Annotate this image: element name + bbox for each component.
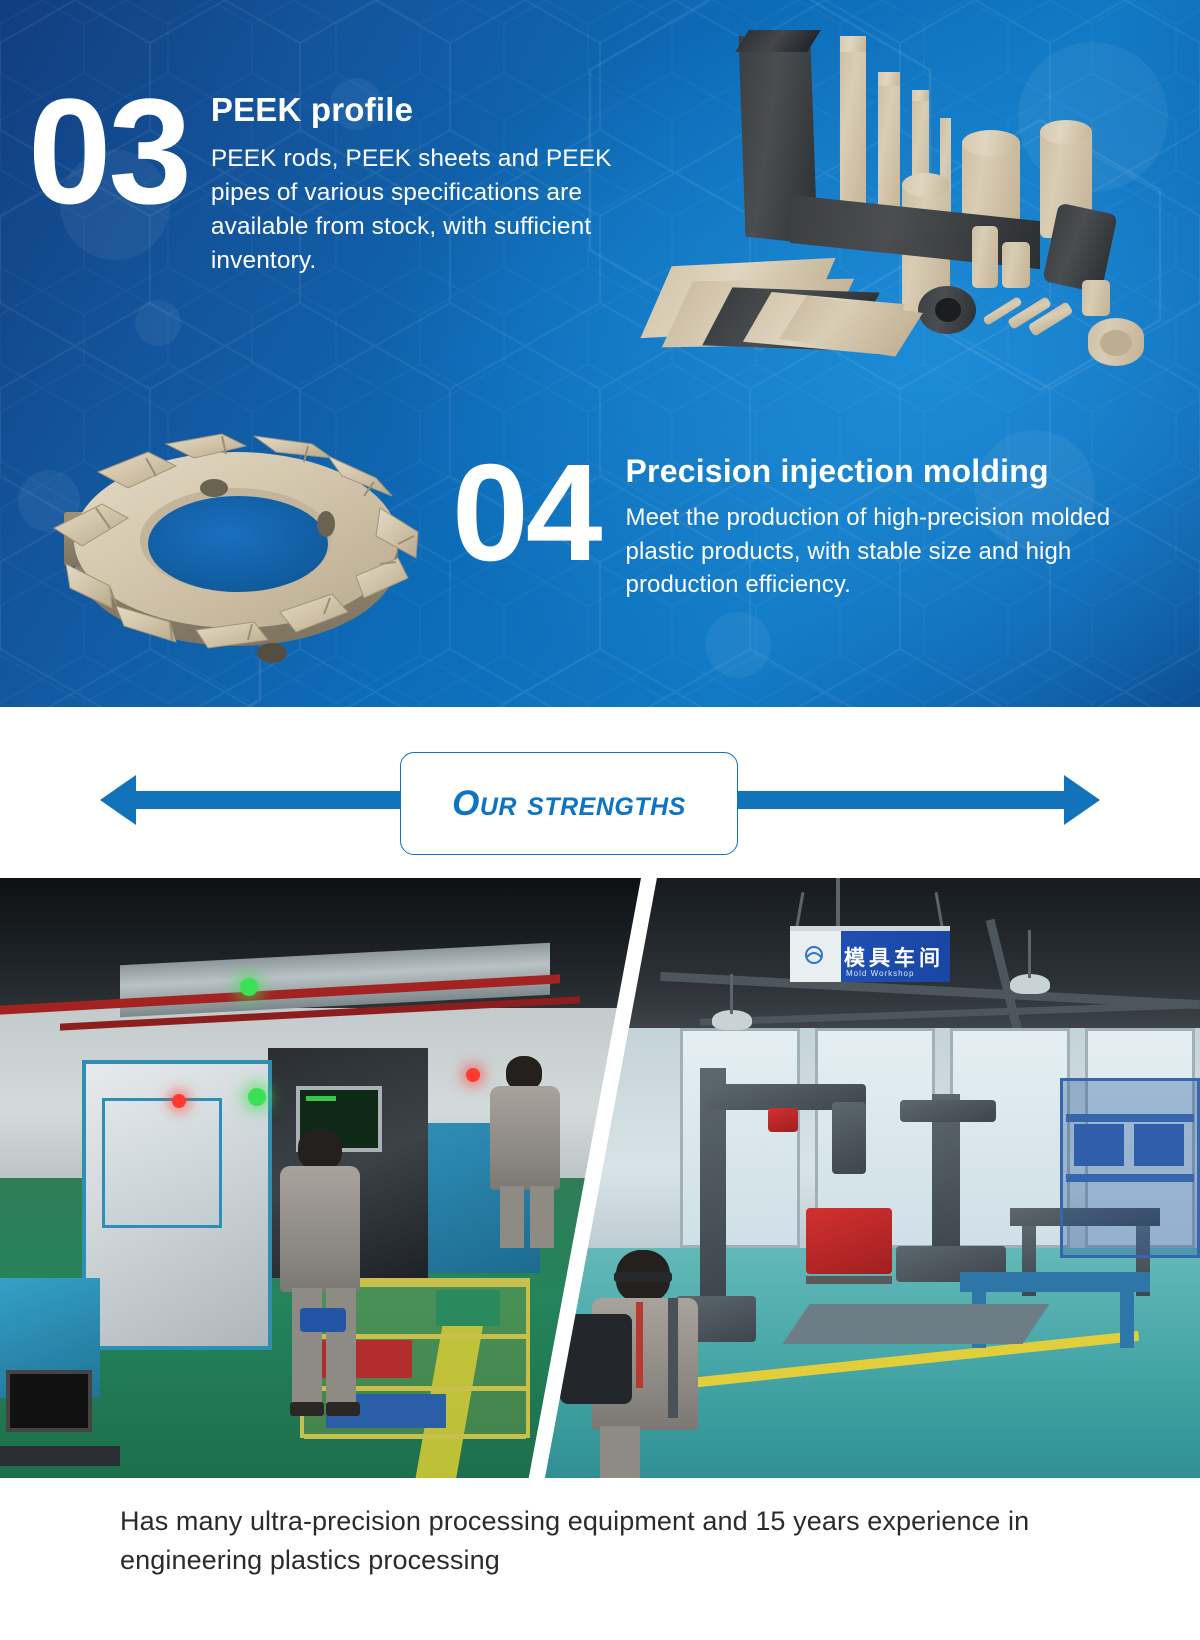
feature-title-03: PEEK profile [211, 92, 668, 128]
sign-text-cn: 模具车间 [844, 942, 944, 972]
feature-description-04: Meet the production of high-precision mo… [626, 501, 1153, 602]
arrow-right-icon [1064, 775, 1100, 825]
hero-section: 03 PEEK profile PEEK rods, PEEK sheets a… [0, 0, 1200, 707]
arrow-left-icon [100, 775, 136, 825]
bottom-caption: Has many ultra-precision processing equi… [0, 1480, 1200, 1640]
feature-block-04: 04 Precision injection molding Meet the … [452, 444, 1152, 602]
sign-text-en: Mold Workshop [846, 969, 914, 978]
feature-block-03: 03 PEEK profile PEEK rods, PEEK sheets a… [28, 78, 668, 277]
our-strengths-box: Our strengths [400, 752, 738, 855]
factory-photos-section: 模具车间 Mold Workshop [0, 878, 1200, 1478]
caption-text: Has many ultra-precision processing equi… [120, 1502, 1080, 1580]
feature-title-04: Precision injection molding [626, 454, 1153, 489]
feature-number-03: 03 [28, 82, 211, 277]
monitor-screen [6, 1370, 92, 1432]
feature-number-04: 04 [452, 450, 626, 602]
worker-figure [272, 1128, 368, 1418]
mold-workshop-sign: 模具车间 Mold Workshop [790, 926, 950, 982]
worker-figure [486, 1056, 566, 1246]
peek-gear-part-image [36, 400, 436, 680]
company-logo-icon [790, 931, 838, 982]
peek-products-image [620, 18, 1180, 368]
our-strengths-label: Our strengths [452, 784, 686, 824]
feature-description-03: PEEK rods, PEEK sheets and PEEK pipes of… [211, 142, 668, 277]
